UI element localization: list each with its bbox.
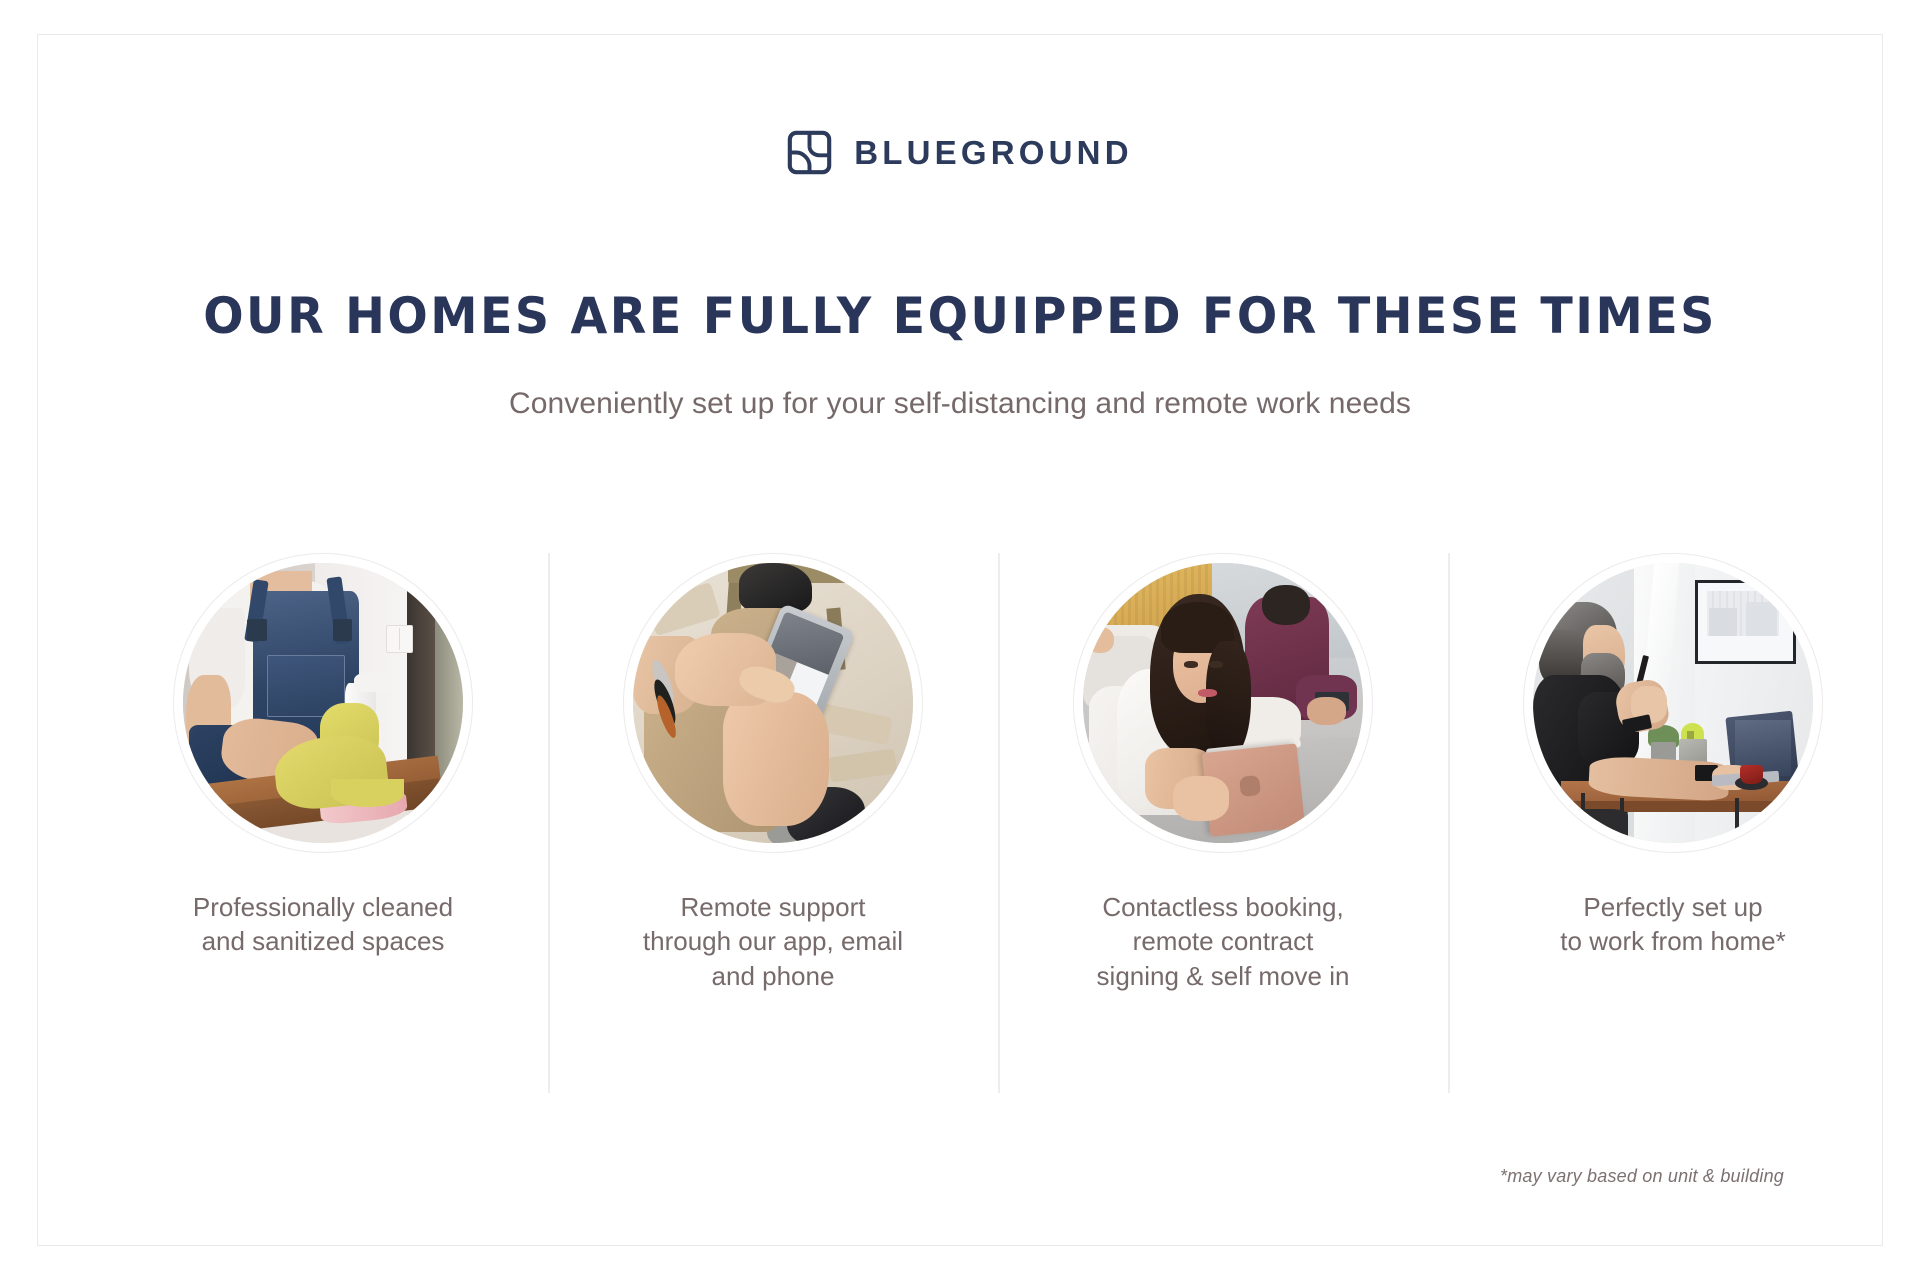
photo-work-from-home-desk [1533, 563, 1813, 843]
photo-ring [623, 553, 923, 853]
brand-wordmark: BLUEGROUND [854, 136, 1133, 169]
page-subtitle: Conveniently set up for your self-distan… [38, 384, 1882, 423]
page-title: OUR HOMES ARE FULLY EQUIPPED FOR THESE T… [84, 289, 1836, 343]
photo-ring [1523, 553, 1823, 853]
photo-cleaning-gloves [183, 563, 463, 843]
photo-ring [173, 553, 473, 853]
poster-page: BLUEGROUND OUR HOMES ARE FULLY EQUIPPED … [0, 0, 1920, 1280]
feature-caption: Professionally cleaned and sanitized spa… [193, 890, 453, 959]
feature-caption: Remote support through our app, email an… [643, 890, 903, 993]
feature-columns: Professionally cleaned and sanitized spa… [98, 553, 1898, 1093]
feature-column-cleaning: Professionally cleaned and sanitized spa… [98, 553, 548, 1093]
photo-ring [1073, 553, 1373, 853]
feature-column-work-from-home: Perfectly set up to work from home* [1448, 553, 1898, 1093]
photo-tablet-contactless-booking [1083, 563, 1363, 843]
footnote-disclaimer: *may vary based on unit & building [1500, 1166, 1784, 1187]
card-frame: BLUEGROUND OUR HOMES ARE FULLY EQUIPPED … [37, 34, 1883, 1246]
blueground-square-icon [787, 130, 832, 175]
feature-caption: Contactless booking, remote contract sig… [1097, 890, 1350, 993]
brand-logo[interactable]: BLUEGROUND [38, 130, 1882, 175]
feature-column-remote-support: Remote support through our app, email an… [548, 553, 998, 1093]
feature-column-contactless-booking: Contactless booking, remote contract sig… [998, 553, 1448, 1093]
photo-phone-app-support [633, 563, 913, 843]
feature-caption: Perfectly set up to work from home* [1560, 890, 1785, 959]
